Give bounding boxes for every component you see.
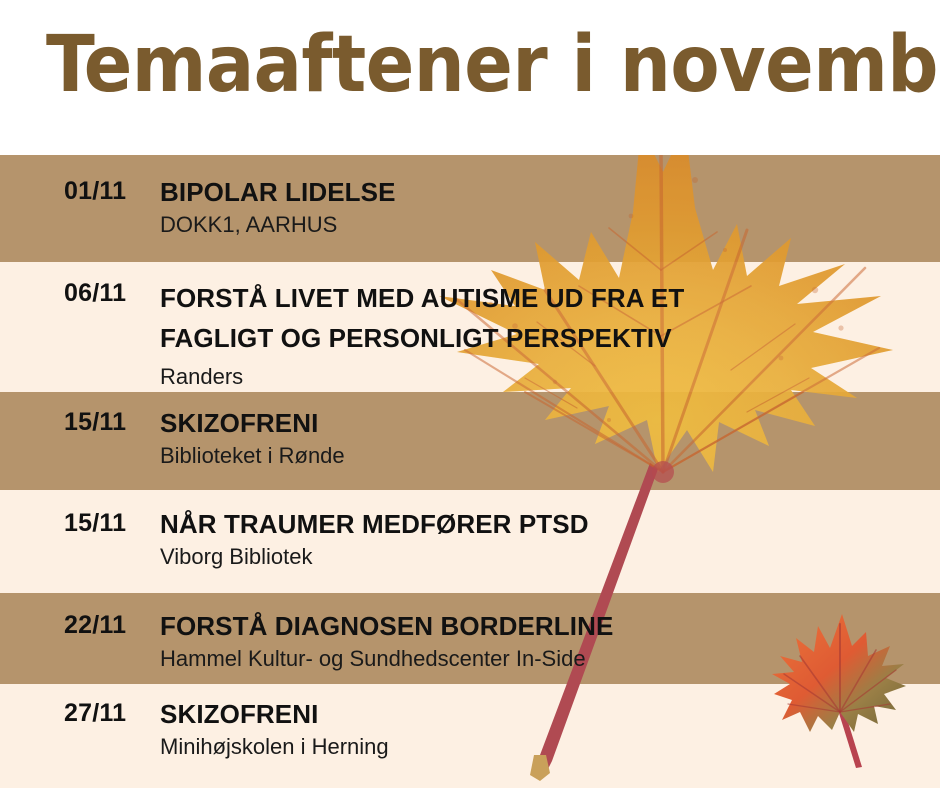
row-body: FORSTÅ LIVET MED AUTISME UD FRA ET FAGLI…	[160, 278, 800, 391]
row-title: FORSTÅ LIVET MED AUTISME UD FRA ET FAGLI…	[160, 278, 800, 358]
schedule-row: 27/11 SKIZOFRENI Minihøjskolen i Herning	[0, 698, 940, 761]
row-date: 15/11	[0, 407, 160, 437]
row-body: FORSTÅ DIAGNOSEN BORDERLINE Hammel Kultu…	[160, 610, 940, 673]
row-title: SKIZOFRENI	[160, 698, 940, 730]
row-title: FORSTÅ DIAGNOSEN BORDERLINE	[160, 610, 940, 642]
row-date: 15/11	[0, 508, 160, 538]
row-venue: Viborg Bibliotek	[160, 542, 940, 571]
schedule-row: 15/11 SKIZOFRENI Biblioteket i Rønde	[0, 407, 940, 470]
schedule-row: 06/11 FORSTÅ LIVET MED AUTISME UD FRA ET…	[0, 278, 940, 391]
row-title: NÅR TRAUMER MEDFØRER PTSD	[160, 508, 940, 540]
schedule-row: 15/11 NÅR TRAUMER MEDFØRER PTSD Viborg B…	[0, 508, 940, 571]
row-date: 06/11	[0, 278, 160, 308]
row-body: SKIZOFRENI Minihøjskolen i Herning	[160, 698, 940, 761]
row-venue: DOKK1, AARHUS	[160, 210, 940, 239]
schedule-row: 01/11 BIPOLAR LIDELSE DOKK1, AARHUS	[0, 176, 940, 239]
row-body: SKIZOFRENI Biblioteket i Rønde	[160, 407, 940, 470]
page-title: Temaaftener i november	[46, 22, 923, 108]
row-venue: Randers	[160, 362, 800, 391]
row-title: BIPOLAR LIDELSE	[160, 176, 940, 208]
row-venue: Minihøjskolen i Herning	[160, 732, 940, 761]
row-date: 22/11	[0, 610, 160, 640]
schedule-row: 22/11 FORSTÅ DIAGNOSEN BORDERLINE Hammel…	[0, 610, 940, 673]
poster-canvas: 01/11 BIPOLAR LIDELSE DOKK1, AARHUS 06/1…	[0, 0, 940, 788]
row-body: BIPOLAR LIDELSE DOKK1, AARHUS	[160, 176, 940, 239]
row-body: NÅR TRAUMER MEDFØRER PTSD Viborg Bibliot…	[160, 508, 940, 571]
row-title: SKIZOFRENI	[160, 407, 940, 439]
row-date: 01/11	[0, 176, 160, 206]
row-date: 27/11	[0, 698, 160, 728]
row-venue: Biblioteket i Rønde	[160, 441, 940, 470]
title-area: Temaaftener i november	[0, 0, 940, 155]
row-venue: Hammel Kultur- og Sundhedscenter In-Side	[160, 644, 940, 673]
